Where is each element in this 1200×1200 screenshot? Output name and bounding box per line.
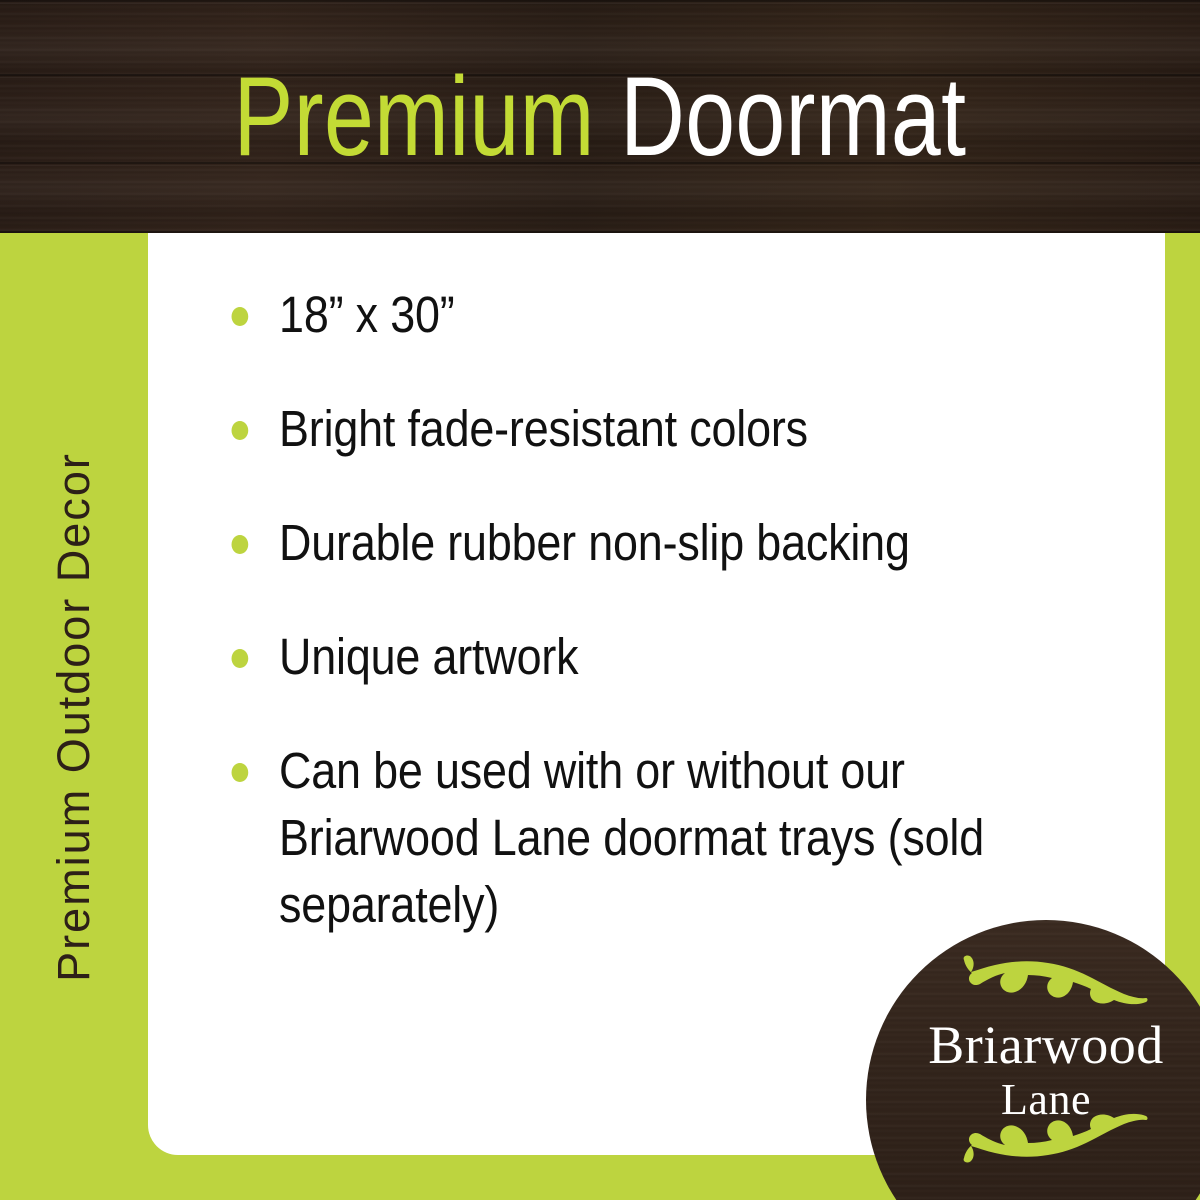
bullet-dot-icon [232, 535, 249, 554]
wood-plank-seam [0, 0, 1200, 2]
product-info-card: Premium Doormat Premium Outdoor Decor 18… [0, 0, 1200, 1200]
feature-bullet-list: 18” x 30” Bright fade-resistant colors D… [228, 281, 1128, 938]
list-item-label: Can be used with or without our Briarwoo… [279, 737, 1020, 938]
page-title-rest: Doormat [595, 54, 967, 179]
list-item-label: Durable rubber non-slip backing [279, 509, 1020, 576]
list-item-label: Unique artwork [279, 623, 1020, 690]
sidebar: Premium Outdoor Decor [0, 233, 148, 1200]
list-item: Durable rubber non-slip backing [228, 509, 1020, 576]
brand-logo-badge: Briarwood Lane [866, 920, 1200, 1200]
brand-name-primary: Briarwood [866, 1015, 1200, 1075]
bullet-dot-icon [232, 307, 249, 326]
page-title-accent: Premium [234, 54, 595, 179]
sidebar-vertical-label: Premium Outdoor Decor [49, 452, 99, 982]
bullet-dot-icon [232, 763, 249, 782]
brand-name-secondary: Lane [866, 1075, 1200, 1125]
list-item: Unique artwork [228, 623, 1020, 690]
brand-wordmark: Briarwood Lane [866, 1015, 1200, 1125]
page-title: Premium Doormat [120, 58, 1080, 176]
oak-leaf-icon [958, 954, 1148, 1006]
list-item: Can be used with or without our Briarwoo… [228, 737, 1020, 938]
brand-logo-inner: Briarwood Lane [866, 920, 1200, 1200]
header-banner: Premium Doormat [0, 0, 1200, 233]
list-item-label: Bright fade-resistant colors [279, 395, 1020, 462]
wood-plank-highlight [0, 3, 1200, 4]
bullet-dot-icon [232, 649, 249, 668]
list-item: 18” x 30” [228, 281, 1020, 348]
list-item-label: 18” x 30” [279, 281, 1020, 348]
bullet-dot-icon [232, 421, 249, 440]
list-item: Bright fade-resistant colors [228, 395, 1020, 462]
